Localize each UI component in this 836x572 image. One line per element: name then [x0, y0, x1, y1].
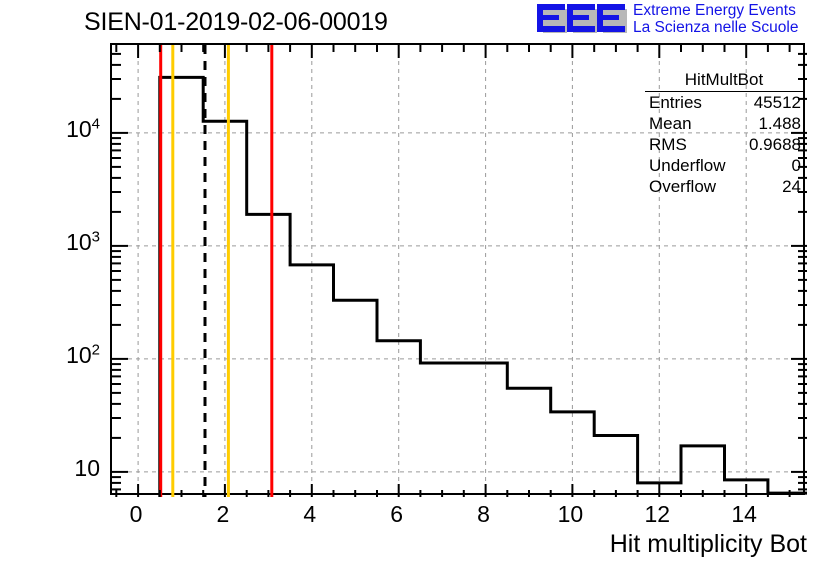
x-tick-label: 2	[193, 501, 253, 528]
eee-logo-text: Extreme Energy Events La Scienza nelle S…	[633, 2, 798, 36]
stats-title: HitMultBot	[645, 70, 803, 92]
stats-row: Overflow24	[645, 176, 803, 197]
stats-row-name: Mean	[649, 113, 692, 134]
stats-row-value: 0.9688	[749, 134, 801, 155]
stats-row-name: RMS	[649, 134, 687, 155]
eee-logo-mark-icon	[537, 4, 629, 36]
stats-row-name: Underflow	[649, 155, 726, 176]
eee-logo-line2: La Scienza nelle Scuole	[633, 19, 798, 36]
y-tick-label: 10	[2, 455, 100, 482]
x-tick-label: 6	[367, 501, 427, 528]
stats-row-name: Entries	[649, 92, 702, 113]
x-tick-label: 0	[106, 501, 166, 528]
x-axis-title: Hit multiplicity Bot	[610, 530, 807, 559]
stats-row-value: 45512	[754, 92, 801, 113]
page-title: SIEN-01-2019-02-06-00019	[84, 8, 388, 37]
x-tick-label: 10	[540, 501, 600, 528]
stats-row-value: 0	[792, 155, 801, 176]
stats-row-value: 1.488	[758, 113, 801, 134]
x-tick-label: 8	[454, 501, 514, 528]
stats-row: Underflow0	[645, 155, 803, 176]
stats-row-value: 24	[782, 176, 801, 197]
stats-rows: Entries45512Mean1.488RMS0.9688Underflow0…	[645, 92, 803, 197]
y-tick-label: 103	[2, 229, 100, 256]
stats-row: RMS0.9688	[645, 134, 803, 155]
x-tick-label: 14	[714, 501, 774, 528]
y-tick-label: 104	[2, 116, 100, 143]
x-tick-label: 4	[280, 501, 340, 528]
y-tick-label: 102	[2, 342, 100, 369]
stats-row: Mean1.488	[645, 113, 803, 134]
stats-row: Entries45512	[645, 92, 803, 113]
stats-row-name: Overflow	[649, 176, 716, 197]
eee-logo-line1: Extreme Energy Events	[633, 2, 798, 19]
eee-logo: Extreme Energy Events La Scienza nelle S…	[537, 2, 833, 38]
root-canvas: SIEN-01-2019-02-06-00019	[0, 0, 836, 572]
stats-box: HitMultBot Entries45512Mean1.488RMS0.968…	[645, 70, 803, 197]
x-tick-label: 12	[627, 501, 687, 528]
